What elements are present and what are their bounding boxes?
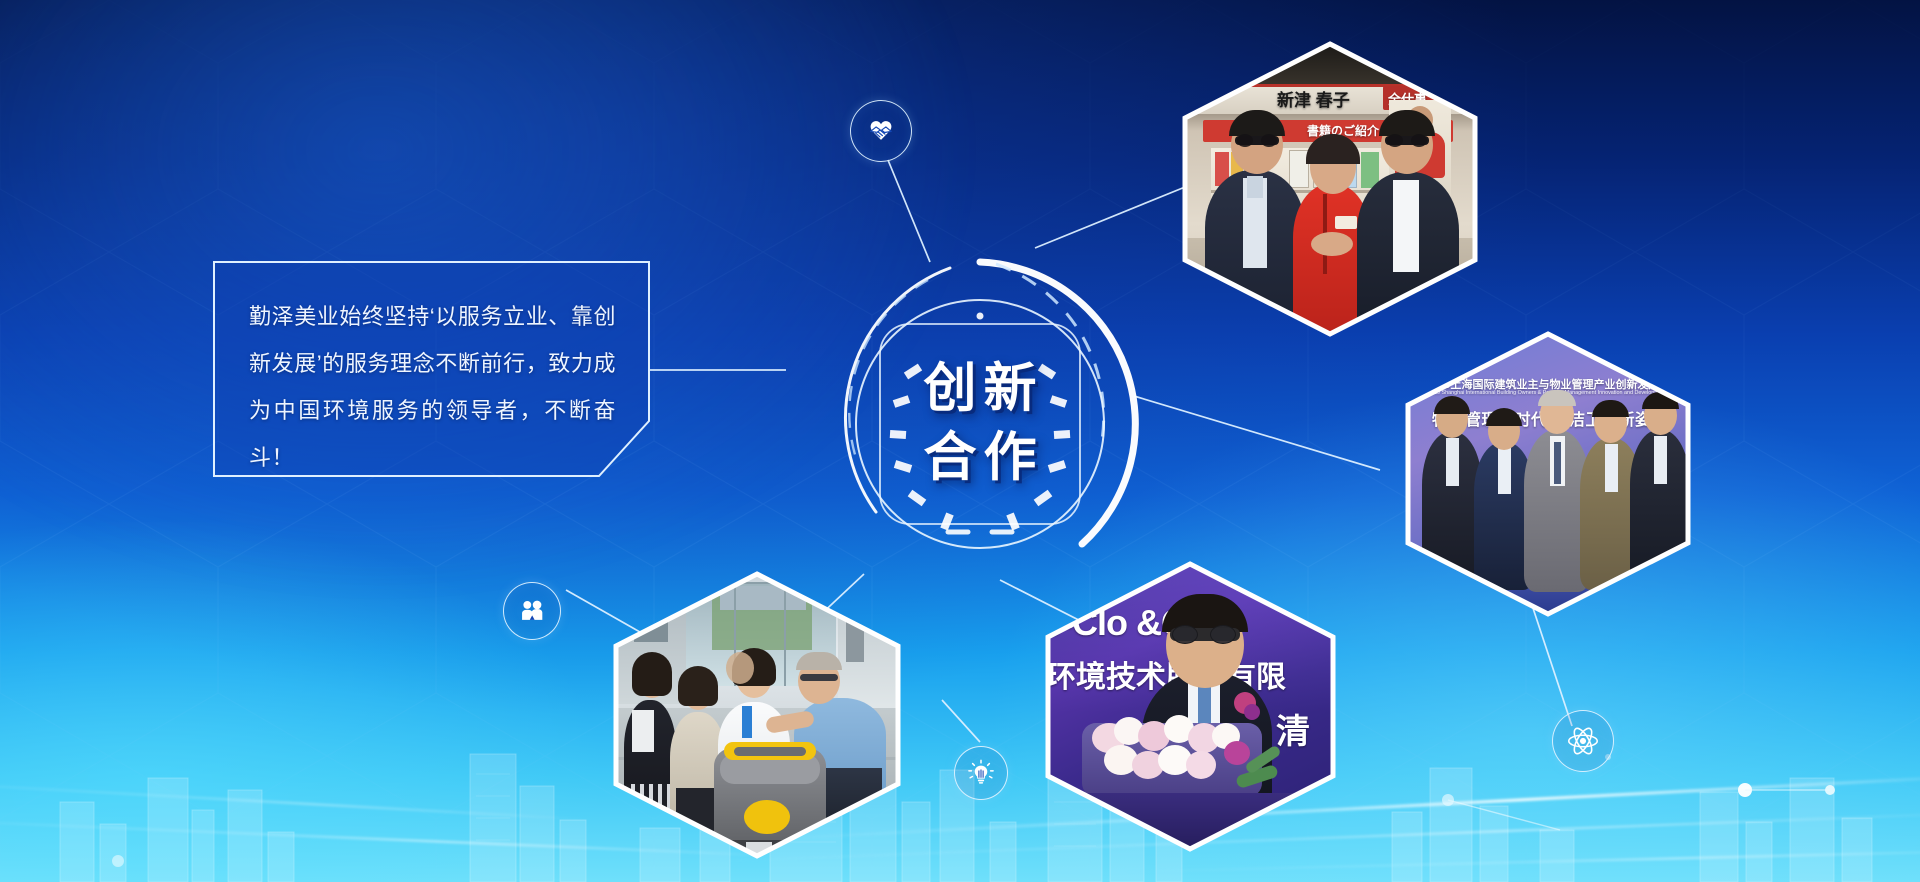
photo-bookstore-caption-main: 新津 春子 [1277, 86, 1350, 111]
atom-icon [1566, 724, 1600, 758]
two-people-icon [517, 596, 547, 626]
node-atom[interactable] [1552, 710, 1614, 772]
center-emblem-line-1: 创新 [917, 358, 1044, 421]
quote-text: 勤泽美业始终坚持‘以服务立业、靠创新发展’的服务理念不断前行，致力成为中国环境服… [249, 293, 616, 481]
banner-canvas: 创新 合作 勤泽美业始终坚持‘以服务立业、靠创新发展’的服务理念不断前行，致力成… [0, 0, 1920, 882]
node-handshake-heart[interactable] [850, 100, 912, 162]
photo-cleaning-demo[interactable] [616, 574, 898, 856]
quote-panel-body: 勤泽美业始终坚持‘以服务立业、靠创新发展’的服务理念不断前行，致力成为中国环境服… [213, 261, 650, 477]
center-emblem-line-2: 合作 [917, 427, 1044, 490]
quote-panel: 勤泽美业始终坚持‘以服务立业、靠创新发展’的服务理念不断前行，致力成为中国环境服… [213, 261, 650, 477]
center-emblem-text: 创新 合作 [800, 244, 1160, 604]
node-lightbulb[interactable] [954, 746, 1008, 800]
photo-conference-group[interactable]: 2019上海国际建筑业主与物业管理产业创新发展 2019 Shanghai In… [1408, 334, 1688, 614]
node-two-people[interactable] [503, 582, 561, 640]
photo-bookstore[interactable]: 新津 春子 全仕事 書籍のご紹介 [1185, 44, 1475, 334]
lightbulb-icon [967, 759, 995, 787]
center-emblem: 创新 合作 [800, 244, 1160, 604]
handshake-heart-icon [864, 114, 898, 148]
photo-speaker[interactable]: e-Clo &Q2 环境技术服务有限 清 服务业联盟系列活 [1048, 564, 1333, 849]
photo-speaker-caption-slogan: 清 [1276, 704, 1310, 753]
